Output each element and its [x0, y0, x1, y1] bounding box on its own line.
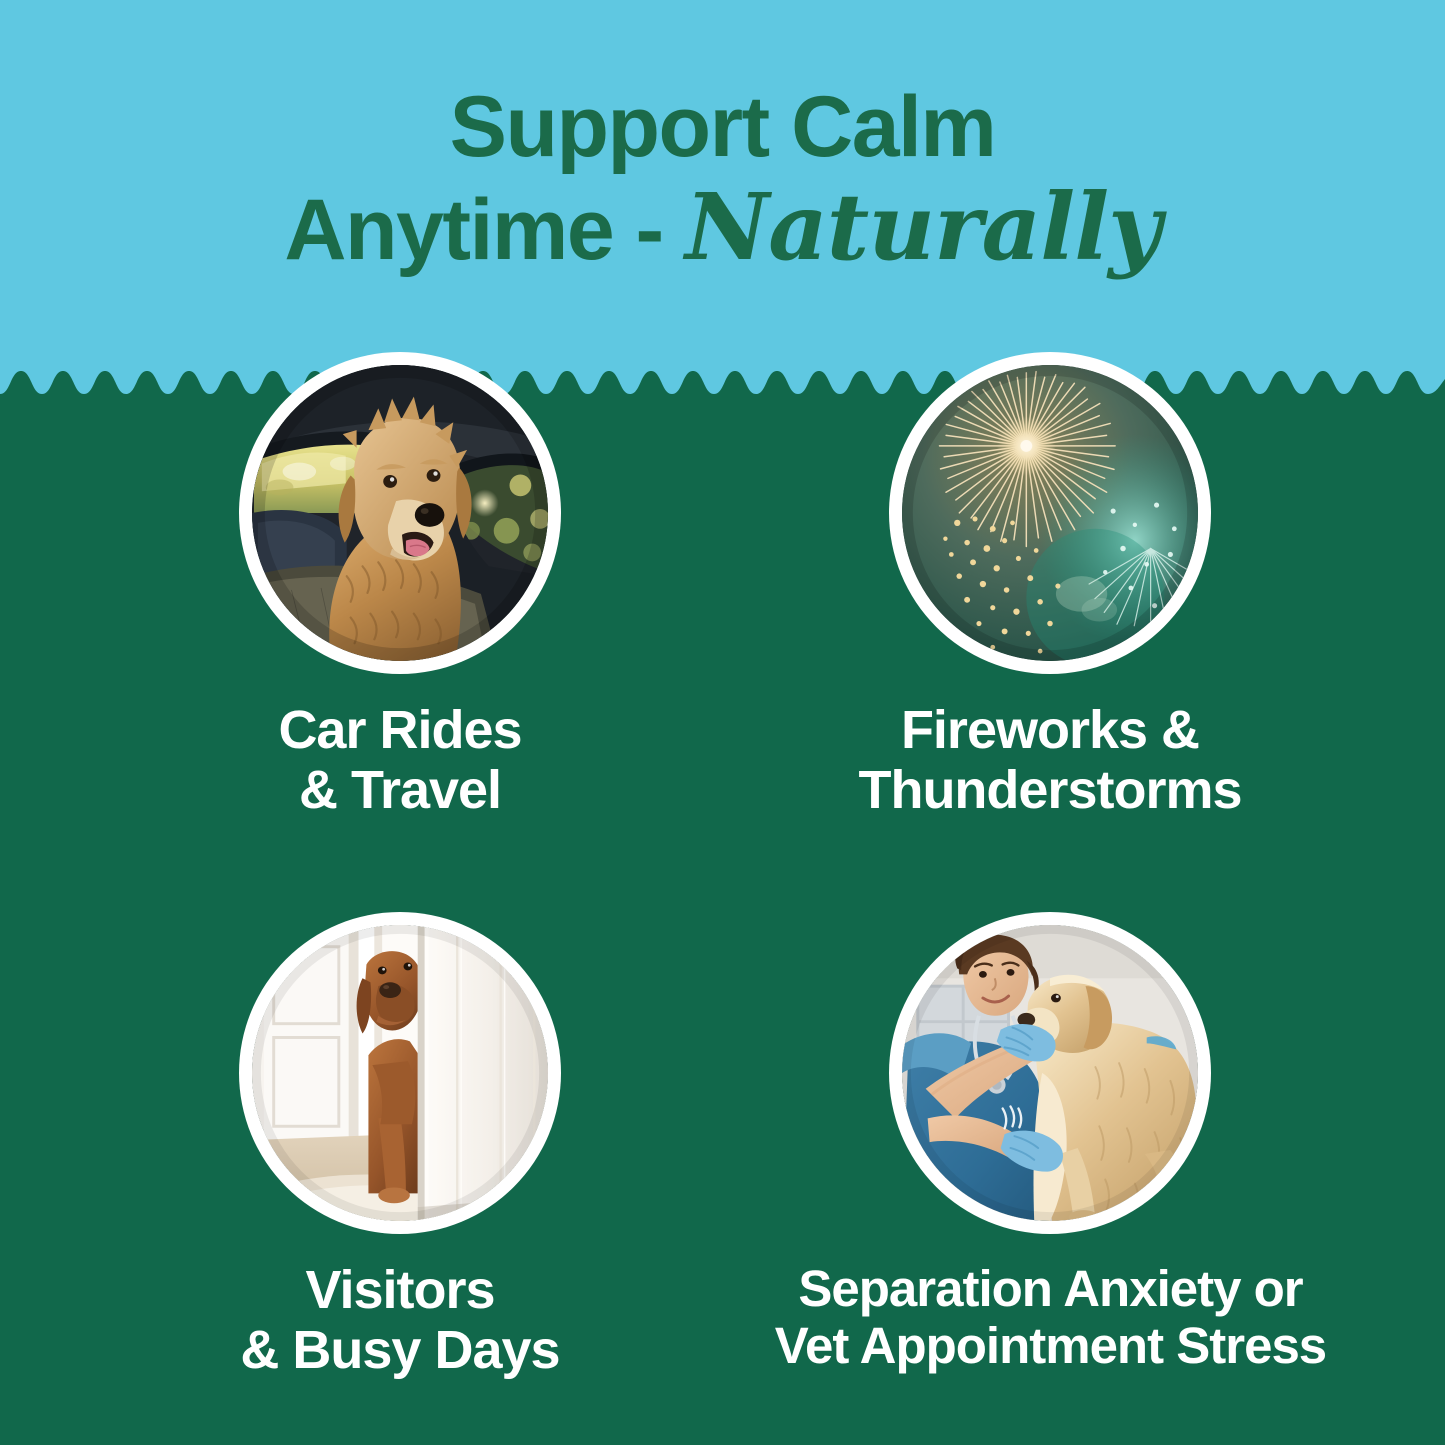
dog-at-door-photo [252, 925, 548, 1221]
benefit-card-visitors[interactable]: Visitors & Busy Days [50, 912, 750, 1381]
benefit-caption: Fireworks & Thunderstorms [700, 700, 1400, 821]
caption-line-2: Thunderstorms [700, 760, 1400, 820]
headline-script-word: Naturally [685, 173, 1161, 281]
caption-line-1: Visitors [50, 1260, 750, 1320]
caption-line-2: & Busy Days [50, 1320, 750, 1380]
benefit-caption: Car Rides & Travel [50, 700, 750, 821]
headline-line-2-plain: Anytime - [284, 182, 685, 278]
headline-line-2: Anytime - Naturally [0, 179, 1445, 277]
caption-line-1: Car Rides [50, 700, 750, 760]
caption-line-2: Vet Appointment Stress [678, 1317, 1423, 1374]
caption-line-1: Separation Anxiety or [678, 1260, 1423, 1317]
caption-line-1: Fireworks & [700, 700, 1400, 760]
dog-in-car-photo [252, 365, 548, 661]
promo-graphic: Support Calm Anytime - Naturally [0, 0, 1445, 1445]
headline-line-1: Support Calm [0, 82, 1445, 173]
benefit-card-fireworks[interactable]: Fireworks & Thunderstorms [700, 352, 1400, 821]
photo-ring [239, 352, 561, 674]
page-title: Support Calm Anytime - Naturally [0, 82, 1445, 277]
benefit-caption: Separation Anxiety or Vet Appointment St… [678, 1260, 1423, 1374]
fireworks-photo [902, 365, 1198, 661]
photo-ring [889, 912, 1211, 1234]
photo-ring [889, 352, 1211, 674]
benefit-card-vet[interactable]: Separation Anxiety or Vet Appointment St… [700, 912, 1400, 1374]
vet-with-dog-photo [902, 925, 1198, 1221]
photo-ring [239, 912, 561, 1234]
benefit-card-car-rides[interactable]: Car Rides & Travel [50, 352, 750, 821]
caption-line-2: & Travel [50, 760, 750, 820]
benefit-caption: Visitors & Busy Days [50, 1260, 750, 1381]
